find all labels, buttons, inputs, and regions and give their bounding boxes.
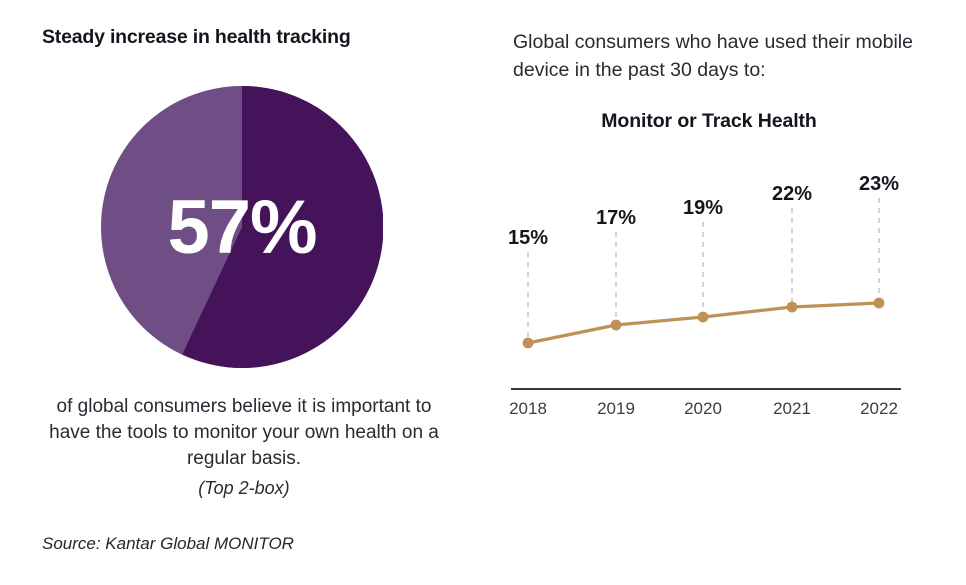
pie-chart: 57% (101, 86, 383, 368)
page-title: Steady increase in health tracking (42, 26, 472, 49)
data-label-2019: 17% (596, 207, 636, 229)
data-point-2019 (611, 320, 622, 331)
data-label-2021: 22% (772, 183, 812, 205)
data-point-2020 (698, 312, 709, 323)
chart-subtitle: Monitor or Track Health (513, 110, 905, 133)
chart-intro-text: Global consumers who have used their mob… (513, 28, 913, 84)
x-tick-label-2018: 2018 (509, 399, 547, 415)
data-label-2022: 23% (859, 173, 899, 195)
data-point-2021 (787, 302, 798, 313)
x-tick-label-2020: 2020 (684, 399, 722, 415)
source-note: Source: Kantar Global MONITOR (42, 534, 294, 554)
pie-subnote: (Top 2-box) (34, 478, 454, 499)
x-tick-label-2019: 2019 (597, 399, 635, 415)
data-label-2018: 15% (508, 227, 548, 249)
data-point-2022 (874, 298, 885, 309)
x-tick-label-2021: 2021 (773, 399, 811, 415)
data-point-2018 (523, 338, 534, 349)
pie-caption: of global consumers believe it is import… (34, 394, 454, 472)
data-label-2020: 19% (683, 197, 723, 219)
line-chart: 15% 17% 19% 22% 23% 2018 2019 2020 2021 … (495, 170, 925, 415)
line-series-path (528, 303, 879, 343)
x-tick-label-2022: 2022 (860, 399, 898, 415)
